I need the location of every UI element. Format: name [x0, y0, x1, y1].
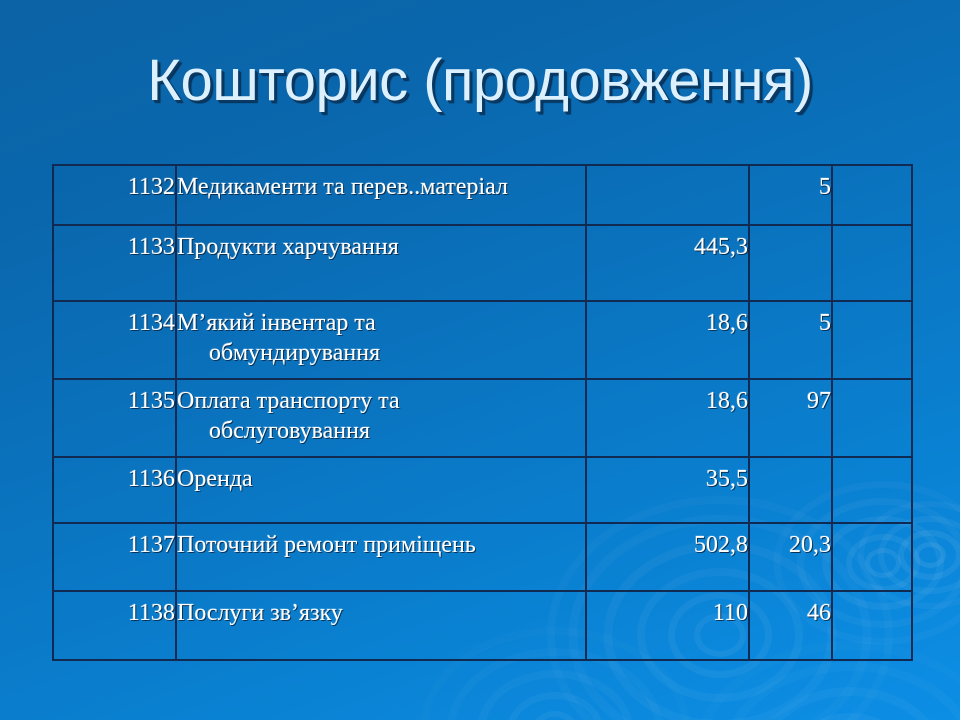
row-value2: 97 — [749, 379, 832, 457]
row-code: 1133 — [53, 225, 176, 301]
row-value1: 18,6 — [586, 379, 749, 457]
slide-canvas: Кошторис (продовження) 1132 Медикаменти … — [0, 0, 960, 720]
table-row: 1136 Оренда 35,5 — [53, 457, 912, 523]
row-value3 — [832, 379, 912, 457]
row-code: 1138 — [53, 591, 176, 660]
row-name-line2: обслуговування — [177, 416, 585, 446]
row-name-line1: Послуги зв’язку — [177, 600, 343, 626]
row-value1: 445,3 — [586, 225, 749, 301]
row-name-line1: Поточний ремонт приміщень — [177, 532, 476, 558]
row-value1: 110 — [586, 591, 749, 660]
slide-title: Кошторис (продовження) — [0, 48, 960, 114]
row-value3 — [832, 165, 912, 225]
row-value1 — [586, 165, 749, 225]
table-row: 1133 Продукти харчування 445,3 — [53, 225, 912, 301]
row-name: Оплата транспорту та обслуговування — [176, 379, 586, 457]
row-name: Поточний ремонт приміщень — [176, 523, 586, 591]
row-name: М’який інвентар та обмундирування — [176, 301, 586, 379]
row-value3 — [832, 457, 912, 523]
row-code: 1136 — [53, 457, 176, 523]
budget-table: 1132 Медикаменти та перев..матеріал 5 11… — [52, 164, 913, 661]
row-value3 — [832, 225, 912, 301]
row-value3 — [832, 301, 912, 379]
row-code: 1135 — [53, 379, 176, 457]
table-row: 1132 Медикаменти та перев..матеріал 5 — [53, 165, 912, 225]
row-name-line1: Продукти харчування — [177, 234, 399, 260]
row-value1: 502,8 — [586, 523, 749, 591]
table-row: 1135 Оплата транспорту та обслуговування… — [53, 379, 912, 457]
row-name: Послуги зв’язку — [176, 591, 586, 660]
row-code: 1137 — [53, 523, 176, 591]
row-name-line1: Медикаменти та перев..матеріал — [177, 174, 508, 200]
row-name-line1: М’який інвентар та — [177, 310, 376, 336]
row-value3 — [832, 591, 912, 660]
table-row: 1134 М’який інвентар та обмундирування 1… — [53, 301, 912, 379]
table-row: 1138 Послуги зв’язку 110 46 — [53, 591, 912, 660]
row-name: Медикаменти та перев..матеріал — [176, 165, 586, 225]
row-value2: 5 — [749, 165, 832, 225]
row-value2: 20,3 — [749, 523, 832, 591]
row-value2 — [749, 225, 832, 301]
row-code: 1132 — [53, 165, 176, 225]
row-value1: 35,5 — [586, 457, 749, 523]
row-name: Продукти харчування — [176, 225, 586, 301]
row-value1: 18,6 — [586, 301, 749, 379]
row-name-line2: обмундирування — [177, 338, 585, 368]
row-value2 — [749, 457, 832, 523]
row-value2: 46 — [749, 591, 832, 660]
row-name-line1: Оренда — [177, 466, 253, 492]
row-name: Оренда — [176, 457, 586, 523]
row-name-line1: Оплата транспорту та — [177, 388, 400, 414]
row-code: 1134 — [53, 301, 176, 379]
row-value2: 5 — [749, 301, 832, 379]
table-row: 1137 Поточний ремонт приміщень 502,8 20,… — [53, 523, 912, 591]
row-value3 — [832, 523, 912, 591]
